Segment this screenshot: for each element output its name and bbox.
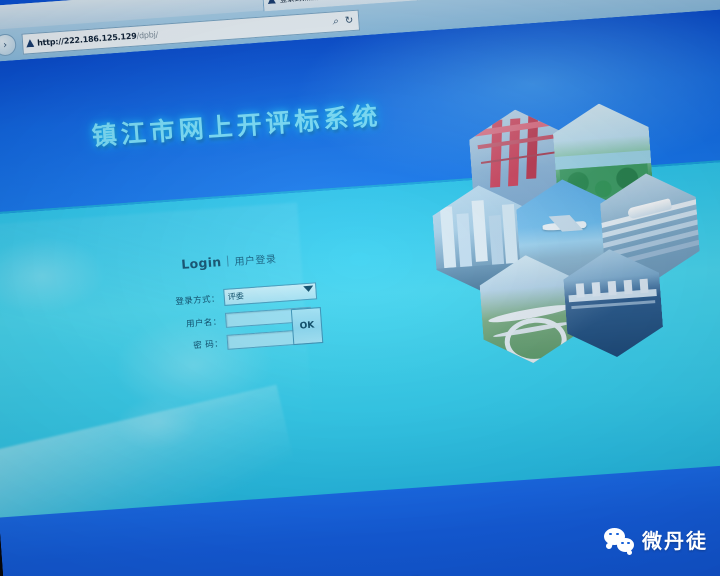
login-heading-cn: 用户登录 — [234, 250, 277, 268]
username-label: 用户名： — [171, 315, 222, 331]
password-label: 密 码： — [173, 337, 224, 353]
forward-button[interactable]: › — [0, 33, 17, 57]
chevron-down-icon — [303, 286, 313, 293]
watermark-text: 微丹徒 — [642, 525, 708, 554]
footer-support-text: 技术支持：江苏国泰新点软件有限公司 — [242, 572, 421, 576]
address-bar-url: http://222.186.125.129/dpbj/ — [37, 30, 159, 48]
wechat-icon — [604, 528, 634, 552]
search-icon[interactable]: ⌕ — [330, 15, 340, 27]
site-identity-icon — [26, 39, 35, 48]
monitor-photo: 登录到新点网上开评标系统... × ‹ › http://222.186.125… — [0, 0, 720, 576]
login-method-value: 评委 — [227, 291, 244, 303]
submit-button[interactable]: OK — [291, 307, 323, 345]
login-method-label: 登录方式： — [170, 292, 221, 308]
monitor-screen: 登录到新点网上开评标系统... × ‹ › http://222.186.125… — [0, 0, 720, 576]
triangle-favicon-icon — [267, 0, 276, 4]
watermark: 微丹徒 — [604, 525, 708, 554]
login-heading-divider — [227, 256, 229, 267]
page-content: 镇江市网上开评标系统 Login 用户登录 登录方式： 评委 — [0, 6, 720, 576]
hexagon-collage — [401, 99, 690, 388]
refresh-icon[interactable]: ↻ — [343, 14, 356, 26]
login-heading-en: Login — [181, 254, 222, 272]
login-method-select[interactable]: 评委 — [223, 282, 317, 306]
login-form: Login 用户登录 登录方式： 评委 用户名： 密 码： — [167, 244, 364, 360]
